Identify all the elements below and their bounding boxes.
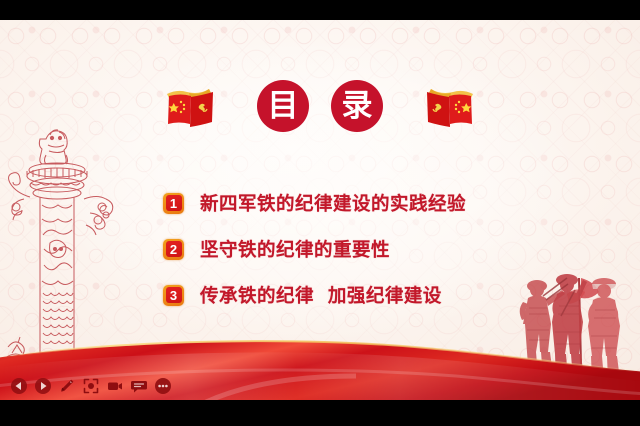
- ellipsis-icon: [154, 377, 172, 395]
- presentation-toolbar: [0, 372, 640, 400]
- title-char-2: 录: [331, 80, 383, 132]
- toc-label-3: 传承铁的纪律 加强纪律建设: [200, 282, 442, 308]
- title-char-1: 目: [257, 80, 309, 132]
- slide-title: 目 录: [257, 80, 383, 132]
- next-icon: [34, 377, 52, 395]
- comment-button[interactable]: [128, 375, 150, 397]
- pen-icon: [58, 377, 76, 395]
- pen-tool-button[interactable]: [56, 375, 78, 397]
- toc-number-badge-3: 3: [163, 285, 184, 306]
- table-of-contents: 1 新四军铁的纪律建设的实践经验 2 坚守铁的纪律的重要性 3 传承铁的纪律 加…: [163, 180, 583, 318]
- video-icon: [106, 377, 124, 395]
- toc-number-1: 1: [170, 197, 177, 210]
- comment-icon: [130, 377, 148, 395]
- toc-label-2: 坚守铁的纪律的重要性: [200, 236, 390, 262]
- toc-item-2[interactable]: 2 坚守铁的纪律的重要性: [163, 226, 583, 272]
- slide-title-row: 目 录: [0, 75, 640, 137]
- toc-item-3[interactable]: 3 传承铁的纪律 加强纪律建设: [163, 272, 583, 318]
- toc-label-1: 新四军铁的纪律建设的实践经验: [200, 190, 466, 216]
- left-flags-icon: [161, 80, 231, 132]
- more-options-button[interactable]: [152, 375, 174, 397]
- previous-icon: [10, 377, 28, 395]
- right-flags-icon: [409, 80, 479, 132]
- video-button[interactable]: [104, 375, 126, 397]
- letterbox-top: [0, 0, 640, 20]
- slide-canvas: 目 录: [0, 20, 640, 400]
- toc-number-badge-2: 2: [163, 239, 184, 260]
- previous-slide-button[interactable]: [8, 375, 30, 397]
- toc-number-badge-1: 1: [163, 193, 184, 214]
- toc-item-1[interactable]: 1 新四军铁的纪律建设的实践经验: [163, 180, 583, 226]
- presentation-viewer: 目 录: [0, 0, 640, 426]
- toc-number-3: 3: [170, 289, 177, 302]
- letterbox-bottom: [0, 400, 640, 426]
- next-slide-button[interactable]: [32, 375, 54, 397]
- toc-number-2: 2: [170, 243, 177, 256]
- spotlight-icon: [82, 377, 100, 395]
- spotlight-button[interactable]: [80, 375, 102, 397]
